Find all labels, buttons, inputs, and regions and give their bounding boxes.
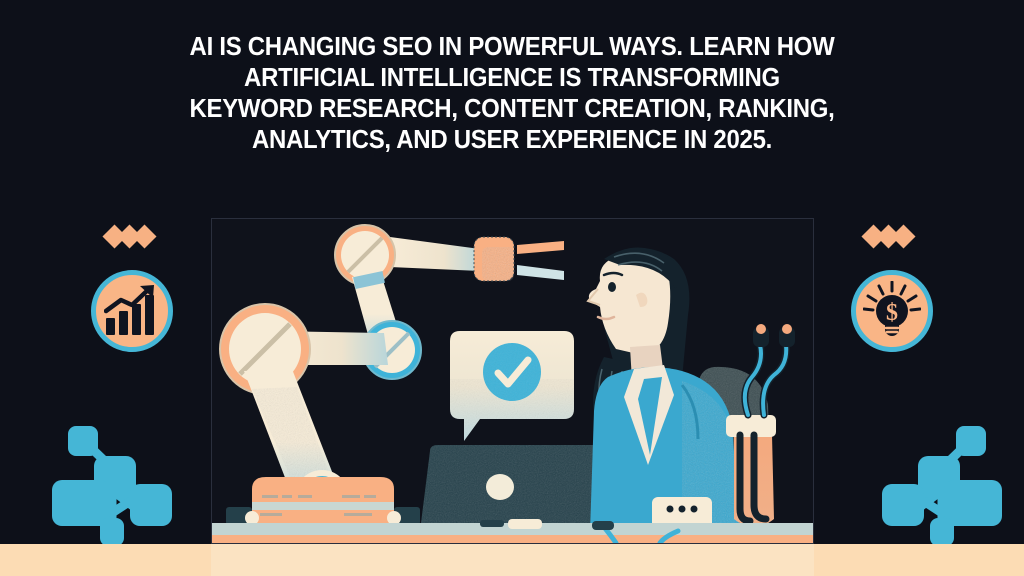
floor-strip bbox=[0, 544, 1024, 576]
laptop-logo-icon bbox=[486, 474, 514, 500]
diamond-icon bbox=[132, 224, 156, 248]
right-network-icon bbox=[872, 418, 1002, 551]
headline-line-2: ARTIFICIAL INTELLIGENCE IS TRANSFORMING bbox=[172, 63, 853, 94]
network-nodes-icon bbox=[872, 418, 1002, 546]
diamond-row-right bbox=[866, 228, 911, 245]
network-nodes-icon bbox=[52, 418, 182, 546]
lightbulb-dollar-icon: $ bbox=[863, 281, 921, 341]
headline-line-1: AI IS CHANGING SEO IN POWERFUL WAYS. LEA… bbox=[172, 32, 853, 63]
robot-arm-and-person-illustration bbox=[212, 219, 813, 543]
lightbulb-dollar-badge: $ bbox=[851, 270, 933, 352]
growth-bar-chart-icon bbox=[104, 285, 160, 337]
left-network-icon bbox=[52, 418, 182, 551]
diamond-row-left bbox=[107, 228, 152, 245]
diamond-icon bbox=[891, 224, 915, 248]
floor-strip-inner bbox=[211, 544, 814, 576]
illustration-panel bbox=[211, 218, 814, 544]
robot-base bbox=[226, 477, 420, 525]
poster-canvas: AI IS CHANGING SEO IN POWERFUL WAYS. LEA… bbox=[0, 0, 1024, 576]
headline-line-3: KEYWORD RESEARCH, CONTENT CREATION, RANK… bbox=[172, 94, 853, 125]
page-title: AI IS CHANGING SEO IN POWERFUL WAYS. LEA… bbox=[172, 32, 853, 156]
growth-bar-chart-badge bbox=[91, 270, 173, 352]
headline-line-4: ANALYTICS, AND USER EXPERIENCE IN 2025. bbox=[172, 125, 853, 156]
svg-text:$: $ bbox=[886, 300, 898, 326]
